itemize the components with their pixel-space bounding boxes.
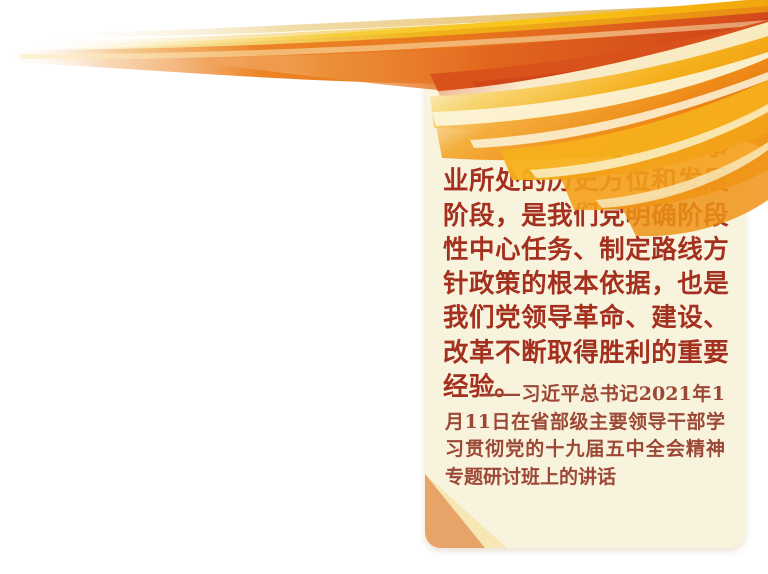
ribbon-hairline-2 (12, 8, 768, 46)
slide-canvas: 正确认识党和人民事业所处的历史方位和发展阶段，是我们党明确阶段性中心任务、制定路… (0, 0, 768, 574)
quote-body-text: 正确认识党和人民事业所处的历史方位和发展阶段，是我们党明确阶段性中心任务、制定路… (425, 130, 745, 404)
ribbon-hairline-1 (28, 2, 768, 37)
quote-attribution-text: ——习近平总书记2021年1月11日在省部级主要领导干部学习贯彻党的十九届五中全… (425, 381, 745, 491)
ribbon-gold-line (8, 6, 768, 53)
